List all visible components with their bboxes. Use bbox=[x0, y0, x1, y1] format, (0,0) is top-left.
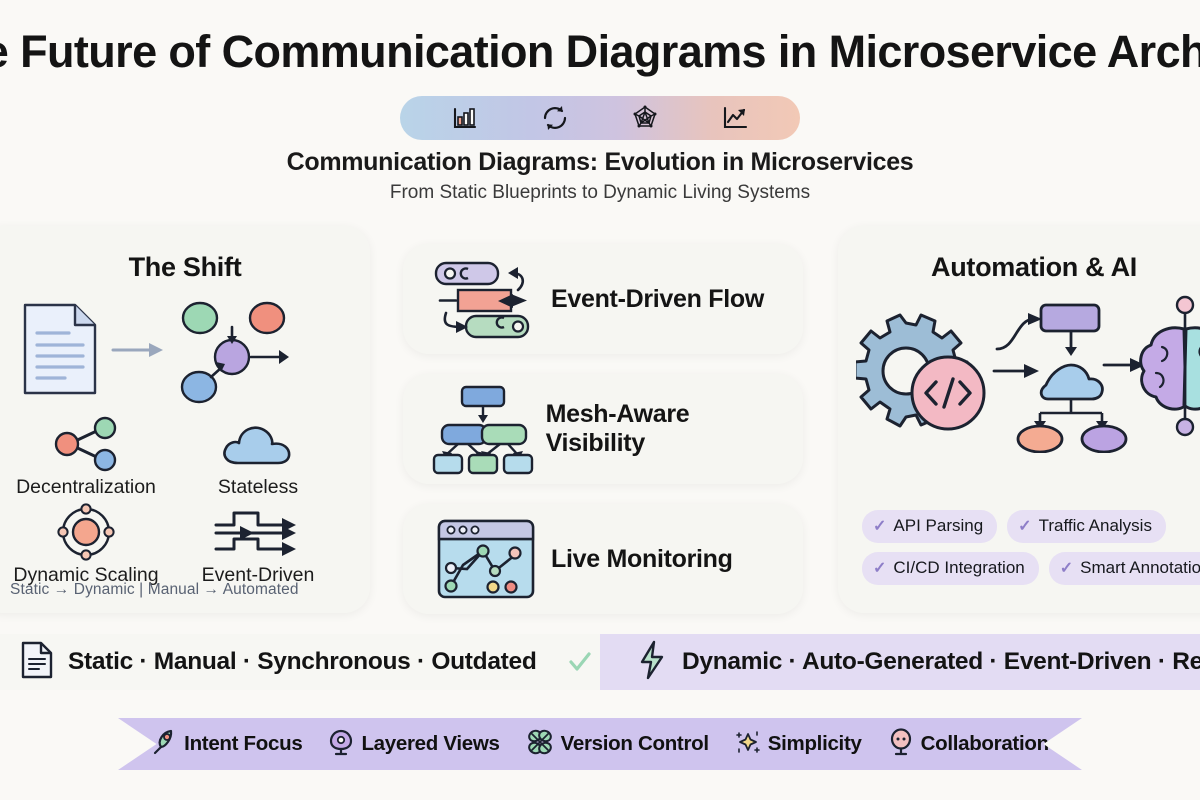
sparkle-icon bbox=[735, 728, 761, 761]
shift-feature-event-driven: Event-Driven bbox=[172, 501, 344, 587]
left-card-footer: Static → Dynamic | Manual → Automated bbox=[10, 581, 299, 599]
document-icon bbox=[20, 640, 54, 685]
best-practices-ribbon: Intent Focus Layered Views bbox=[118, 718, 1082, 770]
ribbon-item-version-control[interactable]: Version Control bbox=[526, 728, 709, 761]
subtitle: Communication Diagrams: Evolution in Mic… bbox=[0, 148, 1200, 177]
check-icon: ✓ bbox=[1060, 558, 1073, 578]
right-card-title: Automation & AI bbox=[838, 252, 1200, 283]
layers-icon bbox=[328, 728, 354, 761]
ribbon-label: Version Control bbox=[561, 732, 709, 756]
shift-feature-stateless: Stateless bbox=[172, 413, 344, 499]
card-mesh-aware-visibility[interactable]: Mesh-Aware Visibility bbox=[403, 374, 803, 484]
dart-pin-icon bbox=[151, 728, 177, 761]
ribbon-item-collaboration[interactable]: Collaboration bbox=[888, 728, 1049, 761]
mid-card-label: Event-Driven Flow bbox=[551, 285, 764, 314]
trend-up-chart-icon bbox=[720, 103, 750, 133]
shift-label: Stateless bbox=[172, 476, 344, 499]
header-icon-strip bbox=[400, 96, 800, 140]
person-icon bbox=[888, 728, 914, 761]
check-icon: ✓ bbox=[873, 516, 886, 536]
event-flow-icon bbox=[421, 257, 551, 341]
chip-label: Traffic Analysis bbox=[1039, 516, 1152, 536]
new-approach-text: Dynamic · Auto-Generated · Event-Driven … bbox=[682, 648, 1200, 676]
mid-card-label: Live Monitoring bbox=[551, 545, 733, 574]
banner-new-approach: Dynamic · Auto-Generated · Event-Driven … bbox=[600, 634, 1200, 690]
check-icon: ✓ bbox=[1018, 516, 1031, 536]
mesh-network-icon bbox=[630, 103, 660, 133]
chip-cicd-integration[interactable]: ✓ CI/CD Integration bbox=[862, 552, 1039, 585]
chip-label: Smart Annotations bbox=[1080, 558, 1200, 578]
check-icon: ✓ bbox=[873, 558, 886, 578]
ribbon-label: Collaboration bbox=[921, 732, 1049, 756]
ai-capability-chips: ✓ API Parsing ✓ Traffic Analysis ✓ CI/CD… bbox=[862, 510, 1200, 585]
signal-waves-icon bbox=[172, 501, 344, 563]
chip-smart-annotations[interactable]: ✓ Smart Annotations bbox=[1049, 552, 1200, 585]
card-event-driven-flow[interactable]: Event-Driven Flow bbox=[403, 244, 803, 354]
shift-feature-dynamic-scaling: Dynamic Scaling bbox=[0, 501, 172, 587]
chip-traffic-analysis[interactable]: ✓ Traffic Analysis bbox=[1007, 510, 1166, 543]
card-live-monitoring[interactable]: Live Monitoring bbox=[403, 504, 803, 614]
tagline: From Static Blueprints to Dynamic Living… bbox=[0, 182, 1200, 204]
chip-api-parsing[interactable]: ✓ API Parsing bbox=[862, 510, 997, 543]
ribbon-item-intent-focus[interactable]: Intent Focus bbox=[151, 728, 302, 761]
document-to-network-icon bbox=[0, 295, 370, 405]
chip-label: CI/CD Integration bbox=[893, 558, 1024, 578]
ribbon-label: Intent Focus bbox=[184, 732, 302, 756]
mid-card-label: Mesh-Aware Visibility bbox=[546, 400, 785, 458]
shift-feature-decentralization: Decentralization bbox=[0, 413, 172, 499]
sync-refresh-icon bbox=[540, 103, 570, 133]
infographic-canvas: The Future of Communication Diagrams in … bbox=[0, 0, 1200, 800]
gear-cloud-brain-icon bbox=[838, 297, 1200, 447]
share-nodes-icon bbox=[0, 413, 172, 475]
atom-scaling-icon bbox=[0, 501, 172, 563]
mesh-tree-icon bbox=[421, 383, 546, 475]
chip-label: API Parsing bbox=[893, 516, 983, 536]
card-automation-ai: Automation & AI bbox=[838, 226, 1200, 613]
lightning-bolt-icon bbox=[638, 640, 666, 685]
left-card-title: The Shift bbox=[0, 252, 370, 283]
monitor-graph-icon bbox=[421, 515, 551, 603]
branch-icon bbox=[526, 728, 554, 761]
ribbon-item-simplicity[interactable]: Simplicity bbox=[735, 728, 862, 761]
ribbon-label: Layered Views bbox=[361, 732, 499, 756]
page-title: The Future of Communication Diagrams in … bbox=[0, 26, 1200, 78]
card-the-shift: The Shift bbox=[0, 226, 370, 613]
ribbon-item-layered-views[interactable]: Layered Views bbox=[328, 728, 499, 761]
ribbon-label: Simplicity bbox=[768, 732, 862, 756]
bar-chart-icon bbox=[450, 103, 480, 133]
shift-label: Decentralization bbox=[0, 476, 172, 499]
old-approach-text: Static · Manual · Synchronous · Outdated bbox=[68, 648, 537, 676]
cloud-icon bbox=[172, 413, 344, 475]
banner-old-approach: Static · Manual · Synchronous · Outdated bbox=[0, 634, 600, 690]
shift-feature-grid: Decentralization Stateless bbox=[0, 413, 370, 587]
check-icon bbox=[567, 649, 593, 675]
